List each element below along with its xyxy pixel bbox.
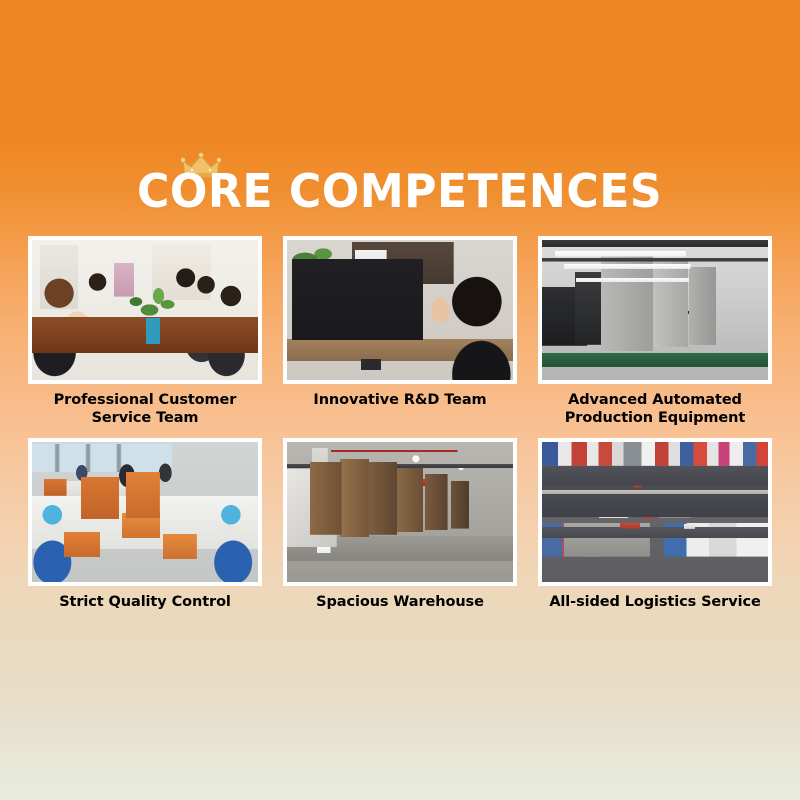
meeting-photo bbox=[32, 240, 258, 380]
competences-grid: Professional Customer Service Team Innov… bbox=[28, 236, 772, 611]
page-title: CORE COMPETENCES bbox=[137, 166, 662, 216]
thumbnail-frame bbox=[283, 236, 517, 384]
competence-card-professional-customer-service-team[interactable]: Professional Customer Service Team bbox=[28, 236, 262, 427]
competence-caption: Advanced Automated Production Equipment bbox=[538, 391, 772, 427]
competence-card-strict-quality-control[interactable]: Strict Quality Control bbox=[28, 438, 262, 611]
thumbnail-frame bbox=[538, 236, 772, 384]
competence-caption: Spacious Warehouse bbox=[283, 593, 517, 611]
competence-caption: Professional Customer Service Team bbox=[28, 391, 262, 427]
thumbnail-frame bbox=[283, 438, 517, 586]
logistics-photo bbox=[542, 442, 768, 582]
quality-control-photo bbox=[32, 442, 258, 582]
competence-card-all-sided-logistics-service[interactable]: All-sided Logistics Service bbox=[538, 438, 772, 611]
core-competences-banner: CORE COMPETENCES Professional Customer S… bbox=[0, 0, 800, 800]
warehouse-photo bbox=[287, 442, 513, 582]
design-photo bbox=[287, 240, 513, 380]
thumbnail-frame bbox=[28, 438, 262, 586]
printing-press-photo bbox=[542, 240, 768, 380]
competence-card-advanced-automated-production-equipment[interactable]: Advanced Automated Production Equipment bbox=[538, 236, 772, 427]
competence-caption: Innovative R&D Team bbox=[283, 391, 517, 409]
competence-caption: All-sided Logistics Service bbox=[538, 593, 772, 611]
title-block: CORE COMPETENCES bbox=[0, 152, 800, 214]
competence-card-innovative-rd-team[interactable]: Innovative R&D Team bbox=[283, 236, 517, 427]
competence-caption: Strict Quality Control bbox=[28, 593, 262, 611]
thumbnail-frame bbox=[28, 236, 262, 384]
thumbnail-frame bbox=[538, 438, 772, 586]
competence-card-spacious-warehouse[interactable]: Spacious Warehouse bbox=[283, 438, 517, 611]
